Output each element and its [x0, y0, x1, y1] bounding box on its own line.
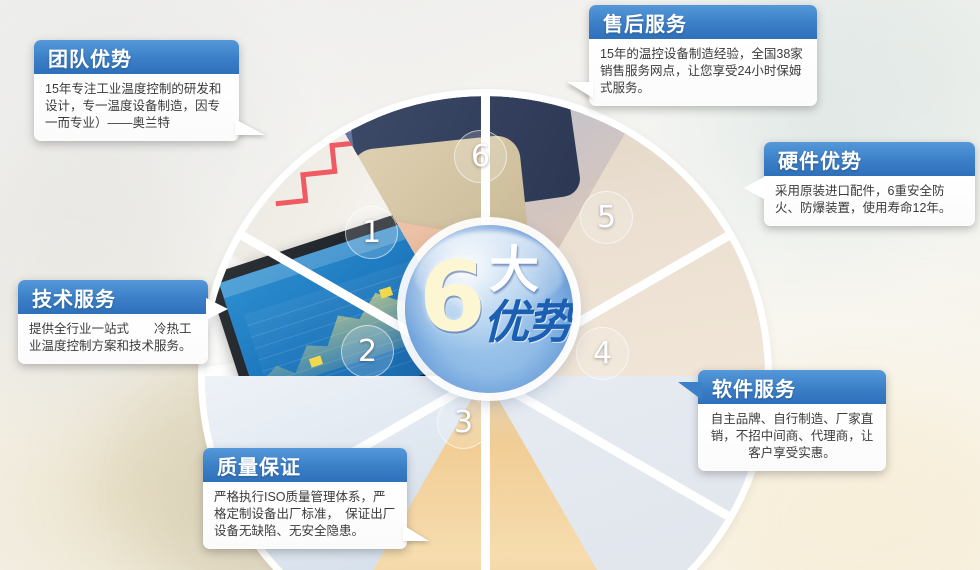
segment-number-3[interactable]: 3 [437, 396, 490, 449]
badge-unit: 大 [489, 245, 539, 295]
callout-title: 技术服务 [18, 280, 208, 314]
segment-number-label: 5 [597, 200, 616, 235]
callout-quality-assurance[interactable]: 质量保证 严格执行ISO质量管理体系，严格定制设备出厂标准， 保证出厂设备无缺陷… [203, 448, 407, 549]
callout-pointer-tail [235, 119, 265, 135]
callout-pointer-tail [567, 82, 593, 98]
callout-text: 严格执行ISO质量管理体系，严格定制设备出厂标准， 保证出厂设备无缺陷、无安全隐… [203, 482, 407, 549]
segment-number-4[interactable]: 4 [576, 327, 629, 380]
callout-pointer-tail [206, 298, 228, 320]
callout-text: 采用原装进口配件，6重安全防火、防爆装置，使用寿命12年。 [764, 176, 975, 226]
callout-pointer-tail [744, 176, 766, 200]
callout-text: 15年专注工业温度控制的研发和设计，专一温度设备制造，因专一而专业）——奥兰特 [34, 74, 239, 141]
segment-number-label: 2 [358, 334, 377, 369]
callout-title: 软件服务 [698, 370, 886, 404]
segment-number-2[interactable]: 2 [341, 325, 394, 378]
segment-number-label: 1 [362, 215, 381, 250]
badge-subtitle: 优势 [483, 299, 571, 345]
callout-title: 团队优势 [34, 40, 239, 74]
center-badge: 6 大 优势 [405, 225, 573, 393]
segment-number-label: 4 [593, 336, 612, 371]
segment-number-label: 3 [454, 405, 473, 440]
segment-number-label: 6 [471, 139, 490, 174]
segment-number-5[interactable]: 5 [580, 191, 633, 244]
callout-team-advantage[interactable]: 团队优势 15年专注工业温度控制的研发和设计，专一温度设备制造，因专一而专业）—… [34, 40, 239, 141]
callout-pointer-tail [678, 382, 702, 400]
callout-after-sales-service[interactable]: 售后服务 15年的温控设备制造经验，全国38家销售服务网点，让您享受24小时保姆… [589, 5, 817, 106]
segment-number-6[interactable]: 6 [454, 130, 507, 183]
callout-technical-service[interactable]: 技术服务 提供全行业一站式 冷热工业温度控制方案和技术服务。 [18, 280, 208, 364]
callout-hardware-advantage[interactable]: 硬件优势 采用原装进口配件，6重安全防火、防爆装置，使用寿命12年。 [764, 142, 975, 226]
infographic-canvas: 1 2 3 4 5 6 6 大 优势 团队优势 15年专注工业温度控制的研发和设… [0, 0, 980, 570]
callout-title: 硬件优势 [764, 142, 975, 176]
badge-number: 6 [419, 249, 486, 345]
callout-software-service[interactable]: 软件服务 自主品牌、自行制造、厂家直销，不招中间商、代理商，让客户享受实惠。 [698, 370, 886, 471]
callout-pointer-tail [403, 525, 429, 541]
callout-text: 自主品牌、自行制造、厂家直销，不招中间商、代理商，让客户享受实惠。 [698, 404, 886, 471]
callout-title: 售后服务 [589, 5, 817, 39]
callout-title: 质量保证 [203, 448, 407, 482]
segment-number-1[interactable]: 1 [345, 206, 398, 259]
callout-text: 15年的温控设备制造经验，全国38家销售服务网点，让您享受24小时保姆式服务。 [589, 39, 817, 106]
callout-text: 提供全行业一站式 冷热工业温度控制方案和技术服务。 [18, 314, 208, 364]
